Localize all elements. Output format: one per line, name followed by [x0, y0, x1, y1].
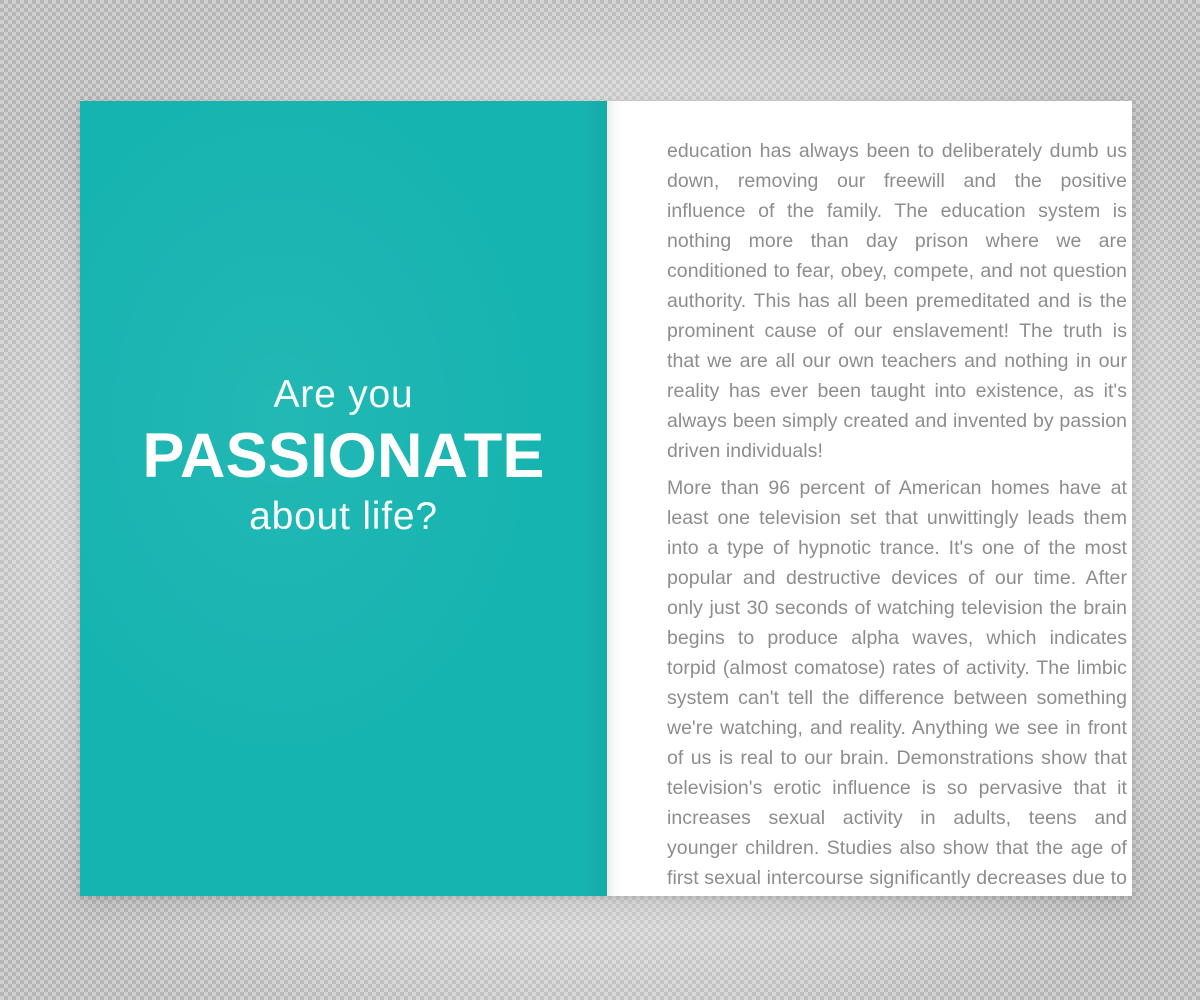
left-page-teal: Are you PASSIONATE about life? — [80, 101, 607, 896]
body-paragraph-1: education has always been to deliberatel… — [667, 136, 1127, 466]
brochure-spread: Are you PASSIONATE about life? education… — [80, 101, 1132, 896]
headline-line-2-passionate: PASSIONATE — [80, 418, 607, 494]
headline-line-3: about life? — [80, 494, 607, 540]
body-copy: education has always been to deliberatel… — [667, 136, 1127, 896]
right-page-white: education has always been to deliberatel… — [607, 101, 1132, 896]
page-stage: Are you PASSIONATE about life? education… — [0, 0, 1200, 1000]
headline-block: Are you PASSIONATE about life? — [80, 372, 607, 550]
body-paragraph-2: More than 96 percent of American homes h… — [667, 473, 1127, 896]
headline-line-1: Are you — [80, 372, 607, 418]
